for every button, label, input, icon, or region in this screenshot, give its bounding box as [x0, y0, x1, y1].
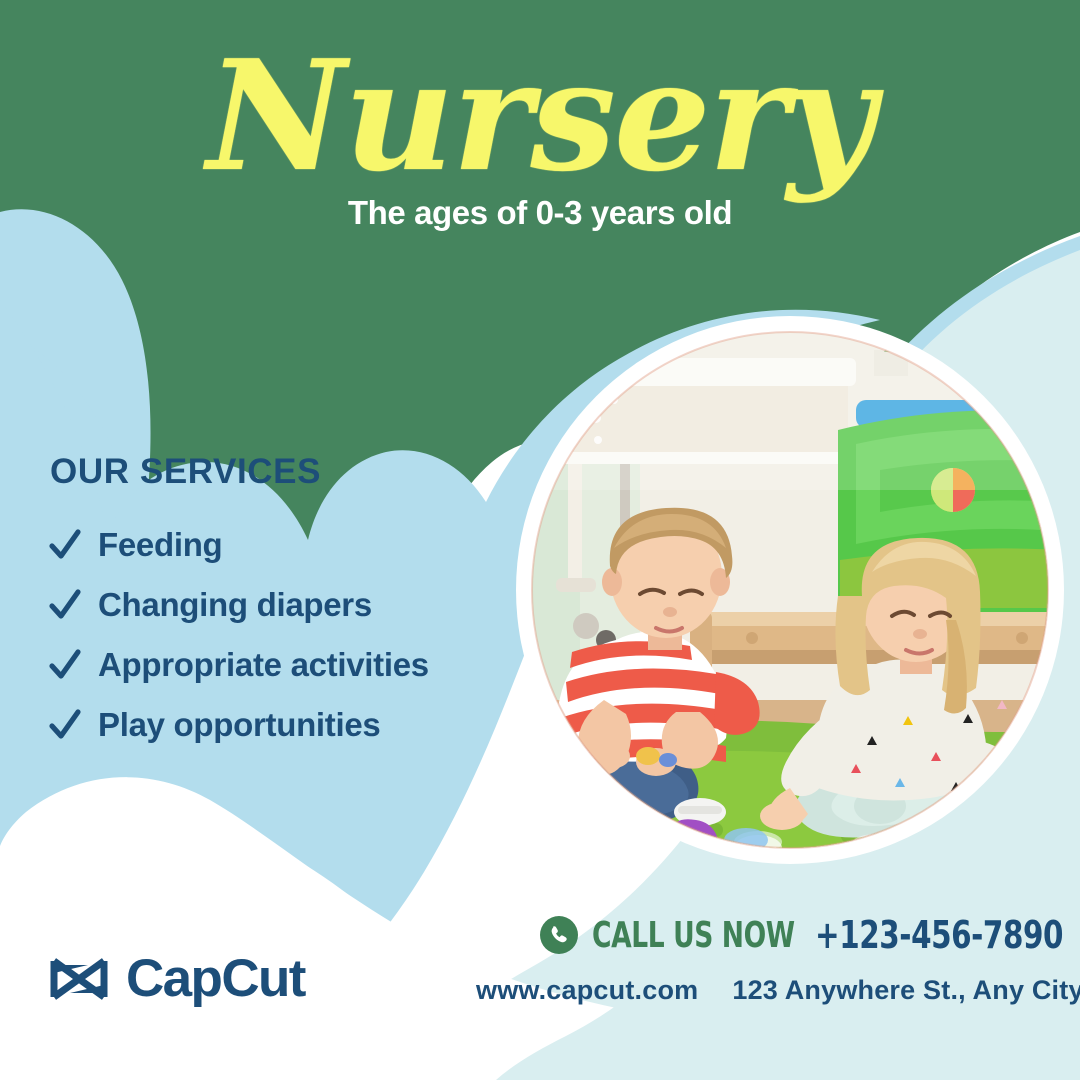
check-icon	[48, 588, 82, 622]
check-icon	[48, 708, 82, 742]
list-item[interactable]: Play opportunities	[48, 706, 518, 744]
page-subtitle: The ages of 0-3 years old	[0, 194, 1080, 232]
call-us-row[interactable]: CALL US NOW +123-456-7890	[540, 913, 1080, 957]
service-label: Play opportunities	[98, 706, 380, 744]
service-label: Changing diapers	[98, 586, 372, 624]
phone-number[interactable]: +123-456-7890	[815, 913, 1063, 957]
brand-name: CapCut	[126, 952, 305, 1005]
capcut-logo-icon	[48, 953, 110, 1005]
call-us-label: CALL US NOW	[592, 915, 795, 956]
list-item[interactable]: Appropriate activities	[48, 646, 518, 684]
poster-canvas: Nursery The ages of 0-3 years old OUR SE…	[0, 0, 1080, 1080]
brand-logo[interactable]: CapCut	[48, 952, 305, 1005]
services-section: OUR SERVICES Feeding Changing diapers Ap…	[48, 452, 518, 766]
check-icon	[48, 648, 82, 682]
check-icon	[48, 528, 82, 562]
address-text: 123 Anywhere St., Any City	[732, 975, 1080, 1006]
page-title: Nursery	[0, 44, 1080, 188]
website-link[interactable]: www.capcut.com	[476, 975, 698, 1006]
contact-meta-row: www.capcut.com 123 Anywhere St., Any Cit…	[476, 975, 1080, 1006]
service-label: Appropriate activities	[98, 646, 429, 684]
header-block: Nursery The ages of 0-3 years old	[0, 44, 1080, 232]
list-item[interactable]: Changing diapers	[48, 586, 518, 624]
services-heading: OUR SERVICES	[50, 452, 518, 492]
phone-icon	[540, 916, 578, 954]
list-item[interactable]: Feeding	[48, 526, 518, 564]
service-label: Feeding	[98, 526, 222, 564]
